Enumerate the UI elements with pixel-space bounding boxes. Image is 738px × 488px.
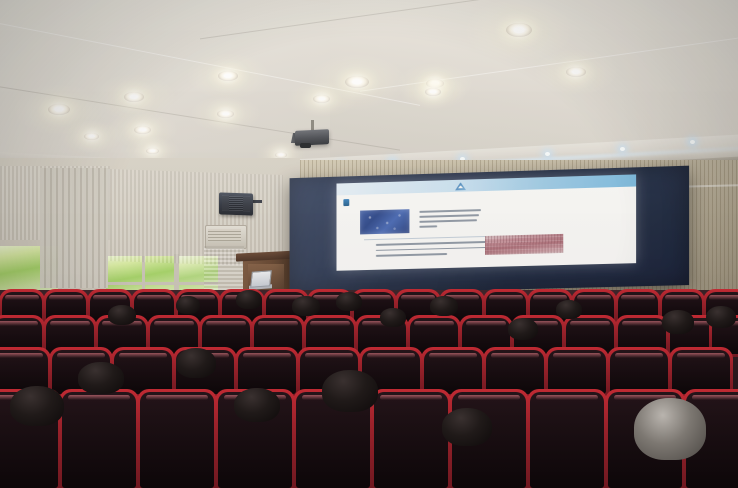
auditorium-seat[interactable] bbox=[672, 350, 730, 394]
downlight-core bbox=[139, 128, 146, 131]
downlight-core bbox=[352, 79, 362, 84]
attendee-head bbox=[78, 362, 124, 394]
auditorium-seat[interactable] bbox=[238, 350, 296, 394]
attendee-head bbox=[556, 300, 582, 319]
ceiling-downlight-icon bbox=[566, 67, 586, 77]
slide-text-line bbox=[419, 214, 479, 217]
speaker-grill bbox=[222, 196, 250, 212]
downlight-core bbox=[130, 95, 138, 99]
slide-text-line bbox=[419, 225, 437, 227]
cove-light-point bbox=[620, 147, 625, 151]
attendee-head bbox=[662, 310, 694, 334]
attendee-head bbox=[236, 290, 262, 309]
seat-shading bbox=[530, 392, 604, 488]
downlight-core bbox=[54, 107, 63, 112]
presentation-slide bbox=[337, 174, 637, 270]
auditorium-seat[interactable] bbox=[610, 350, 668, 394]
attendee-head bbox=[634, 398, 706, 460]
auditorium-seat[interactable] bbox=[62, 392, 136, 488]
slide-text-line bbox=[419, 219, 477, 222]
attendee-head bbox=[234, 388, 280, 422]
auditorium-seat[interactable] bbox=[548, 350, 606, 394]
seat-shading bbox=[610, 350, 668, 394]
downlight-core bbox=[430, 90, 437, 93]
vertical-blind bbox=[40, 168, 108, 288]
downlight-core bbox=[572, 70, 580, 74]
auditorium-seat[interactable] bbox=[374, 392, 448, 488]
attendee-head bbox=[10, 386, 64, 426]
slide-text-line bbox=[419, 209, 481, 212]
downlight-core bbox=[278, 154, 283, 157]
slide-text-line bbox=[376, 246, 493, 251]
attendee-head bbox=[176, 348, 216, 378]
seat-shading bbox=[238, 350, 296, 394]
downlight-core bbox=[222, 112, 229, 115]
attendee-head bbox=[336, 292, 362, 311]
ceiling-downlight-icon bbox=[124, 92, 144, 102]
cove-light-point bbox=[545, 152, 550, 156]
attendee-head bbox=[176, 296, 200, 314]
ceiling-downlight-icon bbox=[217, 110, 234, 118]
attendee-head bbox=[442, 408, 492, 446]
seat-shading bbox=[374, 392, 448, 488]
window-mullion bbox=[106, 282, 218, 285]
ceiling-downlight-icon bbox=[134, 126, 151, 134]
slide-bullet-icon bbox=[343, 199, 349, 206]
slide-text-line bbox=[376, 241, 495, 246]
seat-shading bbox=[486, 350, 544, 394]
seat-shading bbox=[424, 350, 482, 394]
auditorium-seat[interactable] bbox=[424, 350, 482, 394]
seat-shading bbox=[62, 392, 136, 488]
downlight-core bbox=[88, 135, 94, 138]
attendee-head bbox=[508, 318, 538, 340]
downlight-core bbox=[224, 74, 232, 78]
ceiling-downlight-icon bbox=[146, 148, 159, 154]
auditorium-seat[interactable] bbox=[530, 392, 604, 488]
auditorium-photo bbox=[0, 0, 738, 488]
seat-shading bbox=[672, 350, 730, 394]
ceiling-downlight-icon bbox=[218, 71, 238, 81]
attendee-head bbox=[322, 370, 378, 412]
ceiling-downlight-icon bbox=[345, 76, 369, 88]
auditorium-seat[interactable] bbox=[486, 350, 544, 394]
attendee-head bbox=[430, 296, 458, 316]
seat-shading bbox=[548, 350, 606, 394]
downlight-core bbox=[514, 27, 525, 33]
ceiling-downlight-icon bbox=[425, 88, 441, 96]
downlight-core bbox=[150, 150, 155, 153]
ceiling-downlight-icon bbox=[48, 104, 70, 115]
attendee-head bbox=[380, 308, 406, 327]
auditorium-seat[interactable] bbox=[140, 392, 214, 488]
air-conditioner-vent bbox=[208, 229, 241, 241]
laptop-icon bbox=[250, 270, 272, 287]
speaker-bracket bbox=[252, 200, 262, 203]
attendee-head bbox=[108, 305, 136, 325]
slide-image-panorama-texture bbox=[485, 234, 563, 255]
attendee-head bbox=[706, 306, 736, 328]
projector-lens bbox=[300, 143, 311, 148]
cove-light-point bbox=[690, 140, 695, 144]
ceiling-downlight-icon bbox=[84, 133, 99, 140]
ceiling-downlight-icon bbox=[506, 23, 532, 37]
seat-shading bbox=[140, 392, 214, 488]
attendee-head bbox=[292, 296, 320, 316]
slide-text-line bbox=[376, 253, 447, 256]
slide-image-group-photo-texture bbox=[360, 209, 409, 234]
